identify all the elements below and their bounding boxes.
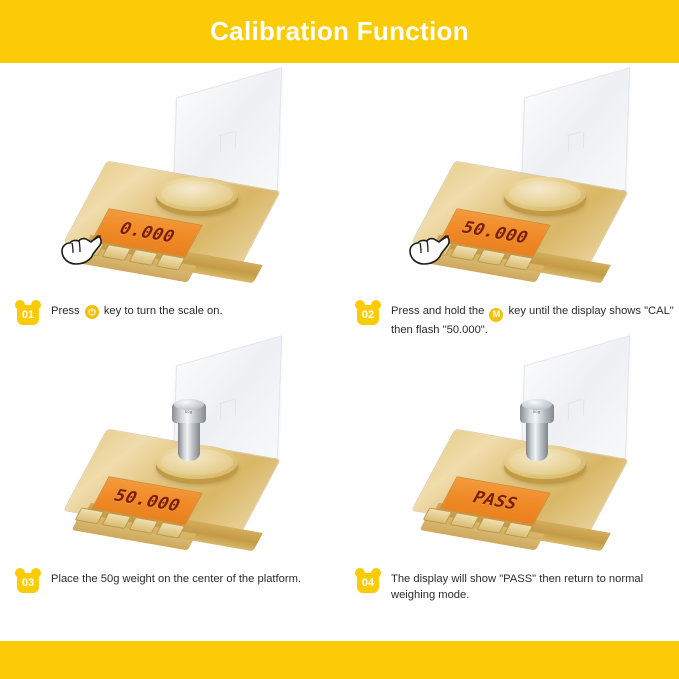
calibration-weight: 50g (172, 399, 206, 461)
step-number: 01 (17, 305, 39, 325)
weighing-platform-rim (161, 181, 233, 207)
key-button[interactable] (449, 512, 479, 529)
page-title: Calibration Function (0, 0, 679, 63)
step-04-text: The display will show "PASS" then return… (391, 567, 674, 603)
step-badge-01: 01 (14, 300, 42, 326)
calibration-infographic: Calibration Function 0.000 (0, 0, 679, 679)
brand-logo-icon (567, 400, 584, 421)
step-card-04: 50g PASS (340, 345, 679, 613)
digital-scale-03: 50g 50.000 (62, 345, 292, 560)
step-badge-02: 02 (354, 300, 382, 326)
key-button[interactable] (101, 512, 131, 529)
step-04-illustration: 50g PASS (340, 345, 679, 560)
step-card-02: 50.000 (340, 77, 679, 345)
step-number: 03 (17, 573, 39, 593)
step-number: 04 (357, 573, 379, 593)
m-key-icon: M (489, 308, 503, 322)
brand-logo-icon (567, 132, 584, 153)
hand-pointer-icon (404, 227, 458, 269)
header-banner: Calibration Function (0, 0, 679, 63)
step-02-text: Press and hold the M key until the displ… (391, 299, 674, 338)
weight-cylinder (526, 417, 548, 461)
step-card-01: 0.000 (0, 77, 339, 345)
digital-scale-02: 50.000 (410, 77, 640, 292)
brand-logo-icon (219, 400, 236, 421)
key-button[interactable] (422, 507, 452, 524)
key-button[interactable] (476, 249, 506, 266)
digital-scale-01: 0.000 (62, 77, 292, 292)
key-button[interactable] (74, 507, 104, 524)
weight-cylinder (178, 417, 200, 461)
weighing-platform-rim (509, 181, 581, 207)
step-03-caption: 03 Place the 50g weight on the center of… (14, 567, 334, 594)
key-button[interactable] (128, 249, 158, 266)
step-badge-04: 04 (354, 568, 382, 594)
step-badge-03: 03 (14, 568, 42, 594)
step-02-caption: 02 Press and hold the M key until the di… (354, 299, 674, 338)
step-card-03: 50g 50.000 (0, 345, 339, 613)
step-01-text-after: key to turn the scale on. (104, 305, 223, 317)
calibration-weight: 50g (520, 399, 554, 461)
steps-grid: 0.000 (0, 63, 679, 641)
step-03-text: Place the 50g weight on the center of th… (51, 567, 301, 587)
step-04-caption: 04 The display will show "PASS" then ret… (354, 567, 674, 603)
key-button[interactable] (476, 517, 506, 534)
step-01-text-before: Press (51, 305, 80, 317)
footer-band (0, 641, 679, 679)
weight-top-cap (174, 399, 204, 410)
step-02-text-before: Press and hold the (391, 305, 484, 317)
weight-top-cap (522, 399, 552, 410)
step-01-caption: 01 Press key to turn the scale on. (14, 299, 334, 326)
step-01-illustration: 0.000 (0, 77, 339, 292)
step-03-illustration: 50g 50.000 (0, 345, 339, 560)
digital-scale-04: 50g PASS (410, 345, 640, 560)
power-icon (85, 305, 99, 319)
step-01-text: Press key to turn the scale on. (51, 299, 223, 319)
brand-logo-icon (219, 132, 236, 153)
step-02-illustration: 50.000 (340, 77, 679, 292)
step-number: 02 (357, 305, 379, 325)
key-button[interactable] (128, 517, 158, 534)
hand-pointer-icon (56, 227, 110, 269)
